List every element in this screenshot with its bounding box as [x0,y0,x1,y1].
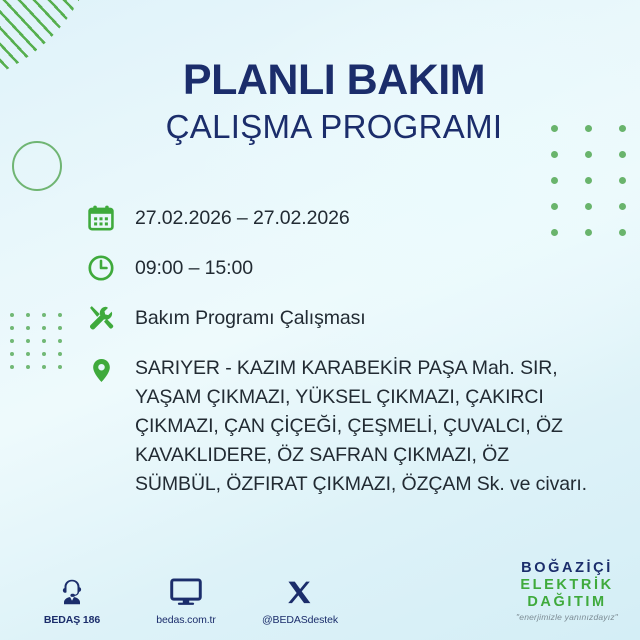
page-title: PLANLI BAKIM [0,58,640,103]
calendar-icon [86,203,116,233]
clock-icon [86,253,116,283]
poster-footer: BEDAŞ 186 bedas.com.tr [0,554,640,640]
call-center-agent-icon [28,573,116,607]
info-row-work: Bakım Programı Çalışması [86,303,606,333]
contact-item-x[interactable]: @BEDASdestek [256,573,344,626]
monitor-icon [142,573,230,607]
brand-line-bogazici: BOĞAZİÇİ [516,560,618,576]
poster-header: PLANLI BAKIM ÇALIŞMA PROGRAMI [0,58,640,146]
info-row-location: SARIYER - KAZIM KARABEKİR PAŞA Mah. SIR,… [86,353,606,499]
contact-label-website: bedas.com.tr [142,614,230,626]
contact-item-phone[interactable]: BEDAŞ 186 [28,573,116,626]
page-subtitle: ÇALIŞMA PROGRAMI [0,108,640,146]
contact-label-x: @BEDASdestek [256,614,344,626]
bedas-logo: BOĞAZİÇİ ELEKTRİK DAĞITIM "enerjimizle y… [516,560,618,622]
contact-list: BEDAŞ 186 bedas.com.tr [28,573,344,626]
brand-line-elektrik: ELEKTRİK [516,577,618,593]
location-pin-icon [86,355,116,385]
contact-item-website[interactable]: bedas.com.tr [142,573,230,626]
x-twitter-icon [256,573,344,607]
time-range-text: 09:00 – 15:00 [135,253,253,283]
poster-canvas: PLANLI BAKIM ÇALIŞMA PROGRAMI 27 [0,0,640,640]
date-range-text: 27.02.2026 – 27.02.2026 [135,203,350,233]
info-row-date: 27.02.2026 – 27.02.2026 [86,203,606,233]
tools-icon [86,303,116,333]
circle-outline-decoration [12,141,62,191]
brand-slogan: "enerjimizle yanınızdayız" [516,612,618,622]
brand-line-dagitim: DAĞITIM [516,594,618,610]
work-type-text: Bakım Programı Çalışması [135,303,366,333]
location-address-text: SARIYER - KAZIM KARABEKİR PAŞA Mah. SIR,… [135,353,587,499]
info-row-time: 09:00 – 15:00 [86,253,606,283]
info-list: 27.02.2026 – 27.02.2026 09:00 – 15:00 [86,203,606,499]
dot-grid-left-decoration [10,313,74,378]
contact-label-phone: BEDAŞ 186 [28,614,116,626]
